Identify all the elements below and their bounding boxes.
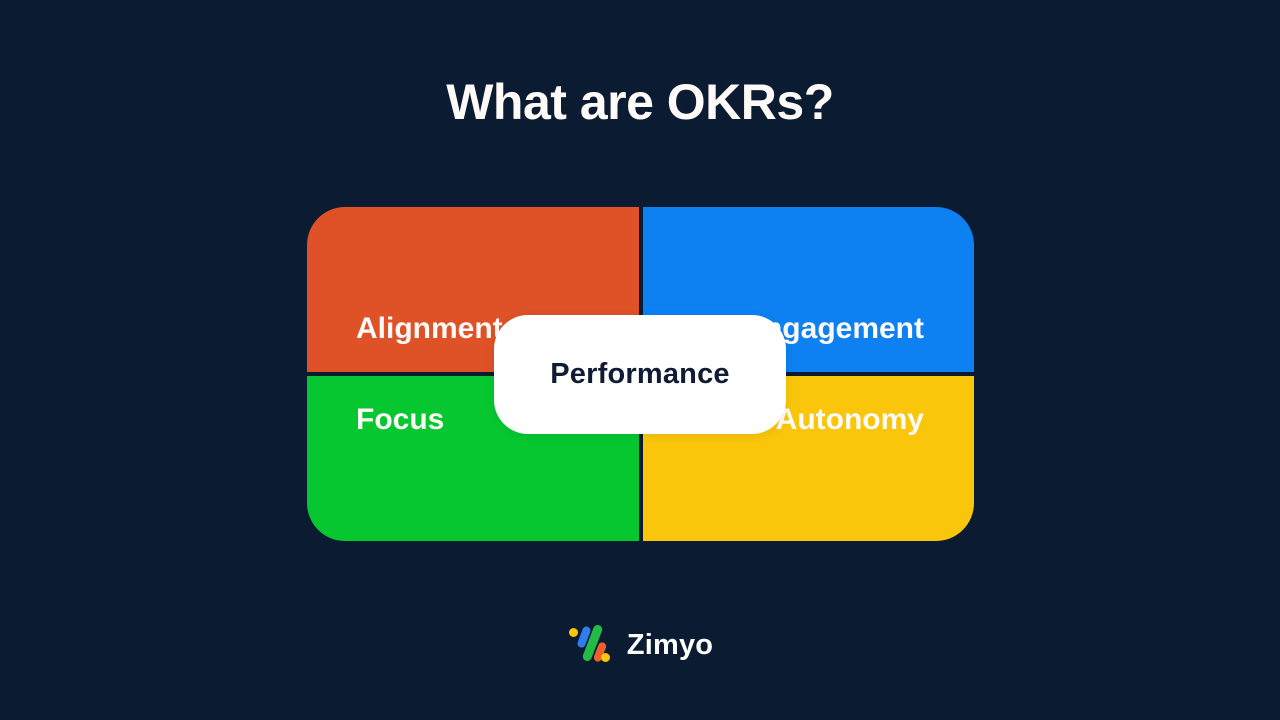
footer-brand: Zimyo bbox=[0, 620, 1280, 670]
brand-name: Zimyo bbox=[627, 630, 713, 660]
page-title: What are OKRs? bbox=[0, 72, 1280, 132]
quadrant-label-autonomy: Autonomy bbox=[776, 403, 924, 437]
zimyo-logo-icon bbox=[567, 620, 613, 670]
quadrant-label-alignment: Alignment bbox=[356, 312, 503, 346]
logo-dot-top-icon bbox=[569, 628, 578, 637]
center-badge-label: Performance bbox=[550, 358, 730, 391]
quadrant-label-focus: Focus bbox=[356, 403, 444, 437]
logo-dot-bottom-icon bbox=[601, 653, 610, 662]
center-badge-performance[interactable]: Performance bbox=[494, 315, 786, 434]
